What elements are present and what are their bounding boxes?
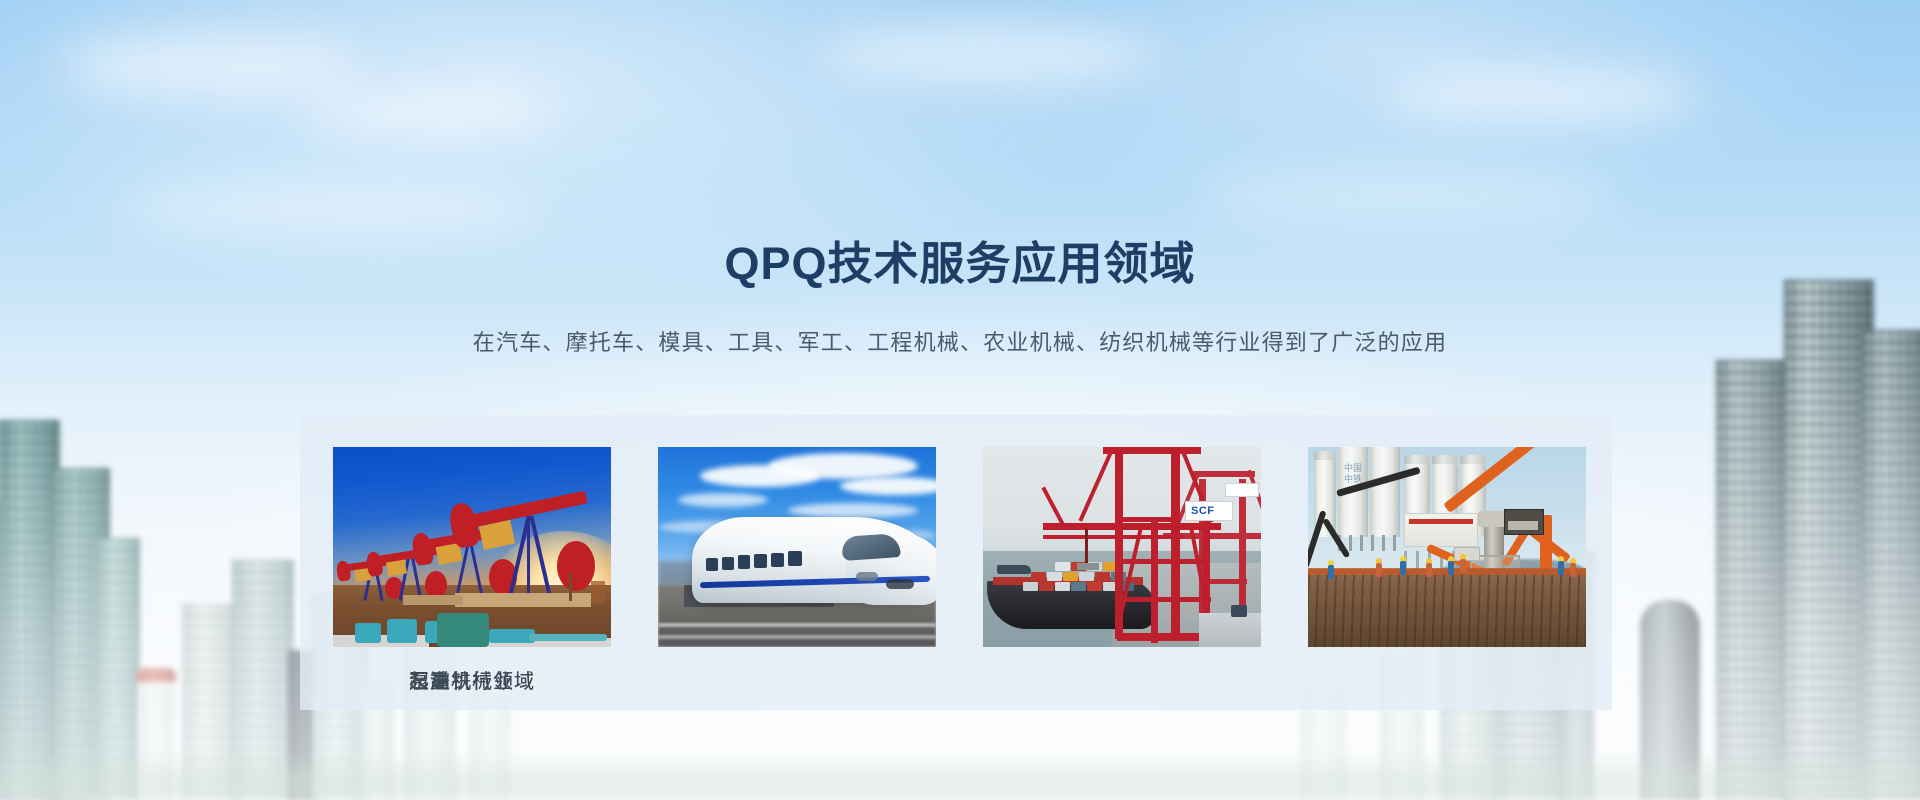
building bbox=[1862, 330, 1920, 800]
page-title: QPQ技术服务应用领域 bbox=[0, 238, 1920, 290]
cloud-wisp bbox=[60, 36, 360, 96]
port-container-cranes-image: SCF bbox=[983, 447, 1261, 647]
application-fields-card-list: 石油机械领域 bbox=[333, 447, 1579, 647]
cloud-wisp bbox=[300, 90, 560, 136]
scf-logo-sign: SCF bbox=[1185, 501, 1233, 521]
cloud-wisp bbox=[1380, 70, 1700, 120]
cloud-wisp bbox=[1200, 170, 1620, 226]
card-lifting-machinery[interactable]: SCF 起重机械领域 bbox=[983, 447, 1261, 647]
concrete-pump-image: 中国中铁 bbox=[1308, 447, 1586, 647]
building-roof bbox=[136, 668, 176, 682]
scf-logo-text: SCF bbox=[1191, 505, 1215, 517]
site-banner bbox=[1404, 513, 1478, 547]
high-speed-train-image bbox=[658, 447, 936, 647]
cloud-wisp bbox=[820, 28, 1160, 82]
card-label: 泵送机械领域 bbox=[333, 665, 611, 694]
page-subtitle: 在汽车、摩托车、模具、工具、军工、工程机械、农业机械、纺织机械等行业得到了广泛的… bbox=[0, 325, 1920, 357]
card-oil-machinery[interactable]: 石油机械领域 bbox=[333, 447, 611, 647]
building bbox=[1716, 360, 1790, 800]
card-high-speed-rail[interactable]: 高铁行业 bbox=[658, 447, 936, 647]
oil-pumpjacks-image bbox=[333, 447, 611, 647]
card-pumping-machinery[interactable]: 中国中铁 bbox=[1308, 447, 1586, 647]
building bbox=[1784, 280, 1874, 800]
tree-line bbox=[0, 754, 1920, 800]
cloud-wisp bbox=[120, 180, 540, 236]
building bbox=[0, 420, 60, 800]
